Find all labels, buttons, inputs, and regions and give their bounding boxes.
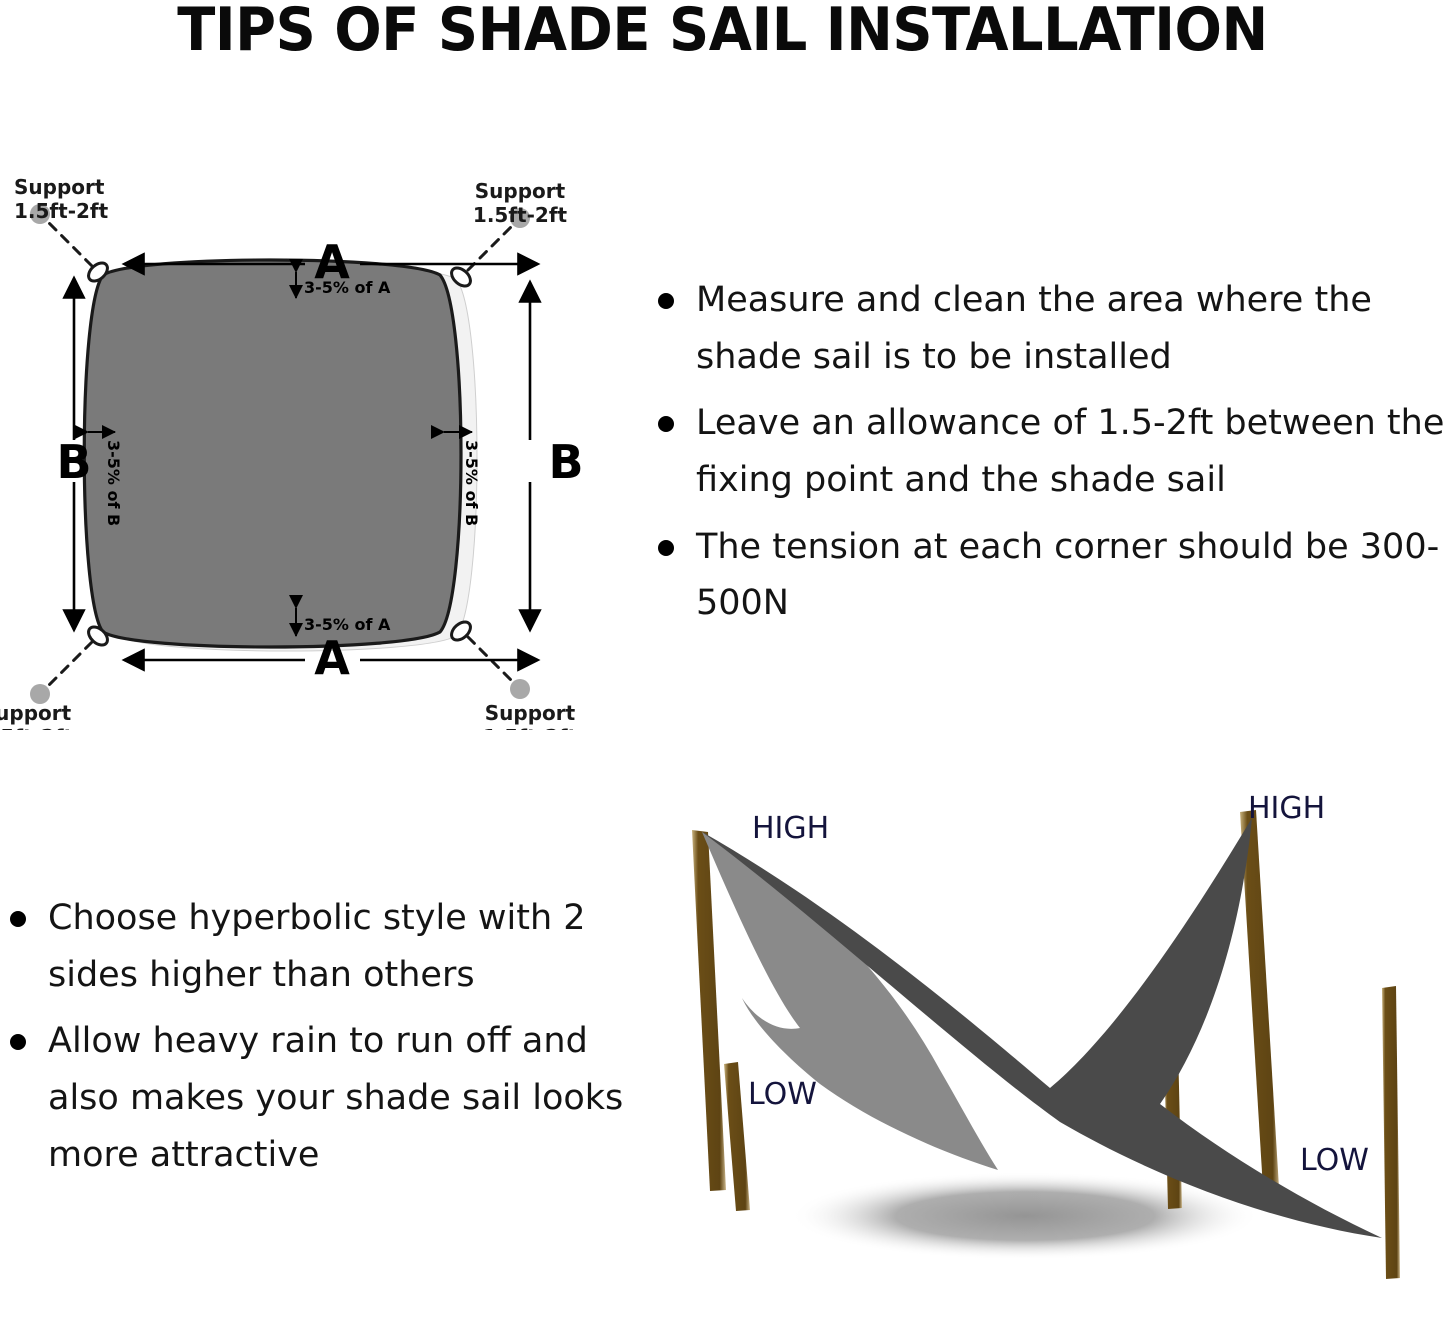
- hyperbolic-shade-sail-illustration: HIGH HIGH LOW LOW: [640, 770, 1445, 1319]
- sail-label-high-right: HIGH: [1248, 791, 1325, 826]
- list-item: Choose hyperbolic style with 2 sides hig…: [0, 890, 636, 1003]
- support-label-top-right-line2: 1.5ft-2ft: [473, 203, 568, 227]
- shade-sail-dimension-diagram: A 3-5% of A 3-5% of A A B 3-5% of B: [0, 160, 660, 730]
- bullet-dot-icon: [10, 911, 26, 927]
- support-label-bottom-left-line2: 1.5ft-2ft: [0, 725, 74, 730]
- support-line-bottom-left: [30, 642, 92, 704]
- dimension-a-bottom-label: A: [314, 631, 350, 685]
- installation-tips-top-list: Measure and clean the area where the sha…: [640, 272, 1445, 642]
- sail-panel-light: [702, 832, 998, 1170]
- support-label-top-right-line1: Support: [475, 179, 566, 203]
- sail-label-low-left: LOW: [748, 1077, 817, 1112]
- dimension-b-right-label: B: [548, 435, 583, 489]
- support-label-top-right: Support 1.5ft-2ft: [473, 179, 568, 227]
- support-label-bottom-right-line1: Support: [485, 701, 576, 725]
- support-label-top-left-line2: 1.5ft-2ft: [14, 199, 109, 223]
- list-item: Allow heavy rain to run off and also mak…: [0, 1013, 636, 1183]
- support-label-bottom-right: Support 1.5ft-2ft: [483, 701, 578, 730]
- support-line-bottom-right: [468, 637, 530, 699]
- support-label-bottom-left-line1: Support: [0, 701, 72, 725]
- ground-shadow: [790, 1172, 1260, 1260]
- tip-text: Choose hyperbolic style with 2 sides hig…: [48, 890, 636, 1003]
- dimension-b-left: B: [56, 278, 91, 630]
- support-label-top-left: Support 1.5ft-2ft: [14, 175, 109, 223]
- bullet-dot-icon: [658, 416, 674, 432]
- sail-label-high-left: HIGH: [752, 811, 829, 846]
- curve-depth-b-left-label: 3-5% of B: [104, 440, 123, 526]
- curve-depth-a-top-label: 3-5% of A: [304, 278, 391, 297]
- page-title: TIPS OF SHADE SAIL INSTALLATION: [51, 0, 1395, 62]
- bullet-dot-icon: [10, 1034, 26, 1050]
- list-item: Measure and clean the area where the sha…: [640, 272, 1445, 385]
- curve-depth-b-right-label: 3-5% of B: [462, 440, 481, 526]
- installation-tips-bottom-list: Choose hyperbolic style with 2 sides hig…: [0, 890, 636, 1193]
- pole-low-left: [724, 1062, 750, 1211]
- bullet-dot-icon: [658, 293, 674, 309]
- tip-text: Leave an allowance of 1.5-2ft between th…: [696, 395, 1445, 508]
- tip-text: Allow heavy rain to run off and also mak…: [48, 1013, 636, 1183]
- sail-label-low-right: LOW: [1300, 1143, 1369, 1178]
- dimension-b-left-label: B: [56, 435, 91, 489]
- tip-text: Measure and clean the area where the sha…: [696, 272, 1445, 385]
- support-label-top-left-line1: Support: [14, 175, 105, 199]
- sail-body: [84, 260, 461, 647]
- list-item: Leave an allowance of 1.5-2ft between th…: [640, 395, 1445, 508]
- support-label-bottom-right-line2: 1.5ft-2ft: [483, 725, 578, 730]
- pole-high-right: [1240, 810, 1280, 1205]
- pole-low-far-right: [1382, 986, 1400, 1279]
- list-item: The tension at each corner should be 300…: [640, 519, 1445, 632]
- support-label-bottom-left: Support 1.5ft-2ft: [0, 701, 74, 730]
- support-dot-bottom-right: [510, 679, 530, 699]
- dimension-b-right: B: [530, 282, 584, 630]
- bullet-dot-icon: [658, 540, 674, 556]
- tip-text: The tension at each corner should be 300…: [696, 519, 1445, 632]
- pole-high-left: [692, 830, 726, 1191]
